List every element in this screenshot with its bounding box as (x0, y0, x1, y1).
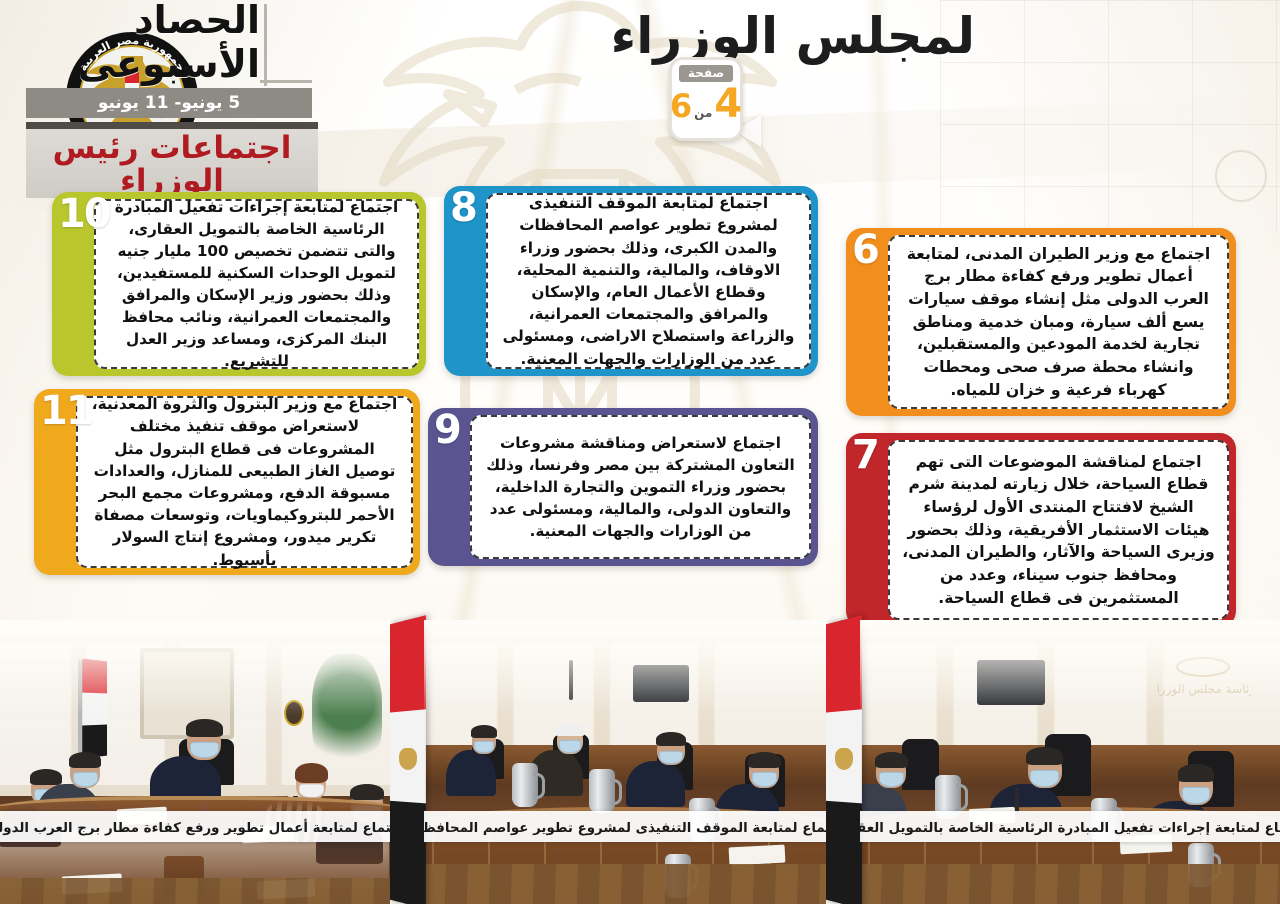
photo-caption-1-text: اجتماع لمتابعة إجراءات تفعيل المبادرة ال… (860, 821, 1280, 836)
news-card-8[interactable]: 8 اجتماع لمتابعة الموقف التنفيذى لمشروع … (444, 186, 818, 376)
date-range-band: 5 يونيو- 11 يونيو (26, 88, 312, 118)
header-horizontal-rule (260, 80, 312, 83)
card-number: 6 (852, 230, 878, 270)
page-badge-caption: صفحة (679, 65, 733, 82)
card-body: اجتماع لمتابعة إجراءات تفعيل المبادرة ال… (94, 199, 419, 369)
card-text: اجتماع لمناقشة الموضوعات التى تهم قطاع ا… (902, 451, 1215, 609)
card-body: اجتماع مع وزير الطيران المدنى، لمتابعة أ… (888, 235, 1229, 409)
card-number: 9 (434, 410, 460, 450)
background-grid-lines (940, 0, 1280, 230)
meeting-photo-1: رئاسة مجلس الوزراء (860, 620, 1280, 904)
header-kicker: الحصاد الأسبوعى (14, 0, 260, 86)
card-number: 10 (58, 194, 110, 234)
card-number: 7 (852, 435, 878, 475)
section-title: اجتماعات رئيس الوزراء (26, 129, 318, 199)
svg-text:رئاسة مجلس الوزراء: رئاسة مجلس الوزراء (1155, 682, 1251, 697)
page-badge-total: 6 (670, 90, 692, 122)
card-text: اجتماع لمتابعة الموقف التنفيذى لمشروع تط… (500, 192, 797, 369)
card-body: اجتماع مع وزير البترول والثروة المعدنية،… (76, 396, 413, 568)
photo-caption-3: اجتماع لمتابعة أعمال تطوير ورفع كفاءة مط… (0, 811, 390, 842)
photo-strip: رئاسة مجلس الوزراء (0, 620, 1280, 904)
photo-caption-3-text: اجتماع لمتابعة أعمال تطوير ورفع كفاءة مط… (0, 821, 390, 836)
card-text: اجتماع لمتابعة إجراءات تفعيل المبادرة ال… (108, 196, 405, 372)
room-crest-emblem: رئاسة مجلس الوزراء (1155, 651, 1251, 705)
photo-caption-2-text: اجتماع لمتابعة الموقف التنفيذى لمشروع تط… (424, 821, 825, 836)
photo-caption-2: اجتماع لمتابعة الموقف التنفيذى لمشروع تط… (424, 811, 825, 842)
page-badge-numbers: 4 من 6 (670, 84, 742, 124)
page-badge-current: 4 (714, 84, 742, 124)
page-badge-of: من (694, 106, 712, 120)
news-card-7[interactable]: 7 اجتماع لمناقشة الموضوعات التى تهم قطاع… (846, 433, 1236, 627)
header-kicker-line1: الحصاد (14, 0, 260, 42)
infographic-page: جمهورية مصر العربية رئاسة مجلس الوزراء ا… (0, 0, 1280, 904)
news-card-6[interactable]: 6 اجتماع مع وزير الطيران المدنى، لمتابعة… (846, 228, 1236, 416)
card-text: اجتماع مع وزير الطيران المدنى، لمتابعة أ… (902, 243, 1215, 401)
photo-3-scene (0, 620, 390, 904)
news-card-11[interactable]: 11 اجتماع مع وزير البترول والثروة المعدن… (34, 389, 420, 575)
news-card-10[interactable]: 10 اجتماع لمتابعة إجراءات تفعيل المبادرة… (52, 192, 426, 376)
card-body: اجتماع لمناقشة الموضوعات التى تهم قطاع ا… (888, 440, 1229, 620)
meeting-photo-3: اجتماع لمتابعة أعمال تطوير ورفع كفاءة مط… (0, 620, 390, 904)
card-body: اجتماع لمتابعة الموقف التنفيذى لمشروع تط… (486, 193, 811, 369)
meeting-photo-2: اجتماع لمتابعة الموقف التنفيذى لمشروع تط… (424, 620, 825, 904)
news-card-9[interactable]: 9 اجتماع لاستعراض ومناقشة مشروعات التعاو… (428, 408, 818, 566)
page-number-badge: صفحة 4 من 6 (669, 57, 743, 141)
photo-2-scene (424, 620, 825, 904)
photo-1-scene: رئاسة مجلس الوزراء (860, 620, 1280, 904)
header-vertical-rule (264, 4, 267, 86)
card-text: اجتماع مع وزير البترول والثروة المعدنية،… (90, 393, 399, 570)
card-body: اجتماع لاستعراض ومناقشة مشروعات التعاون … (470, 415, 811, 559)
header-kicker-line2: الأسبوعى (14, 44, 260, 86)
page-title: لمجلس الوزراء (611, 6, 975, 67)
card-number: 8 (450, 188, 476, 228)
date-range-text: 5 يونيو- 11 يونيو (98, 93, 240, 113)
card-text: اجتماع لاستعراض ومناقشة مشروعات التعاون … (484, 432, 797, 542)
section-title-panel: اجتماعات رئيس الوزراء (26, 122, 318, 198)
photo-caption-1: اجتماع لمتابعة إجراءات تفعيل المبادرة ال… (860, 811, 1280, 842)
card-number: 11 (40, 391, 92, 431)
egypt-flag-divider-2 (390, 620, 424, 904)
egypt-flag-divider-1 (826, 620, 860, 904)
